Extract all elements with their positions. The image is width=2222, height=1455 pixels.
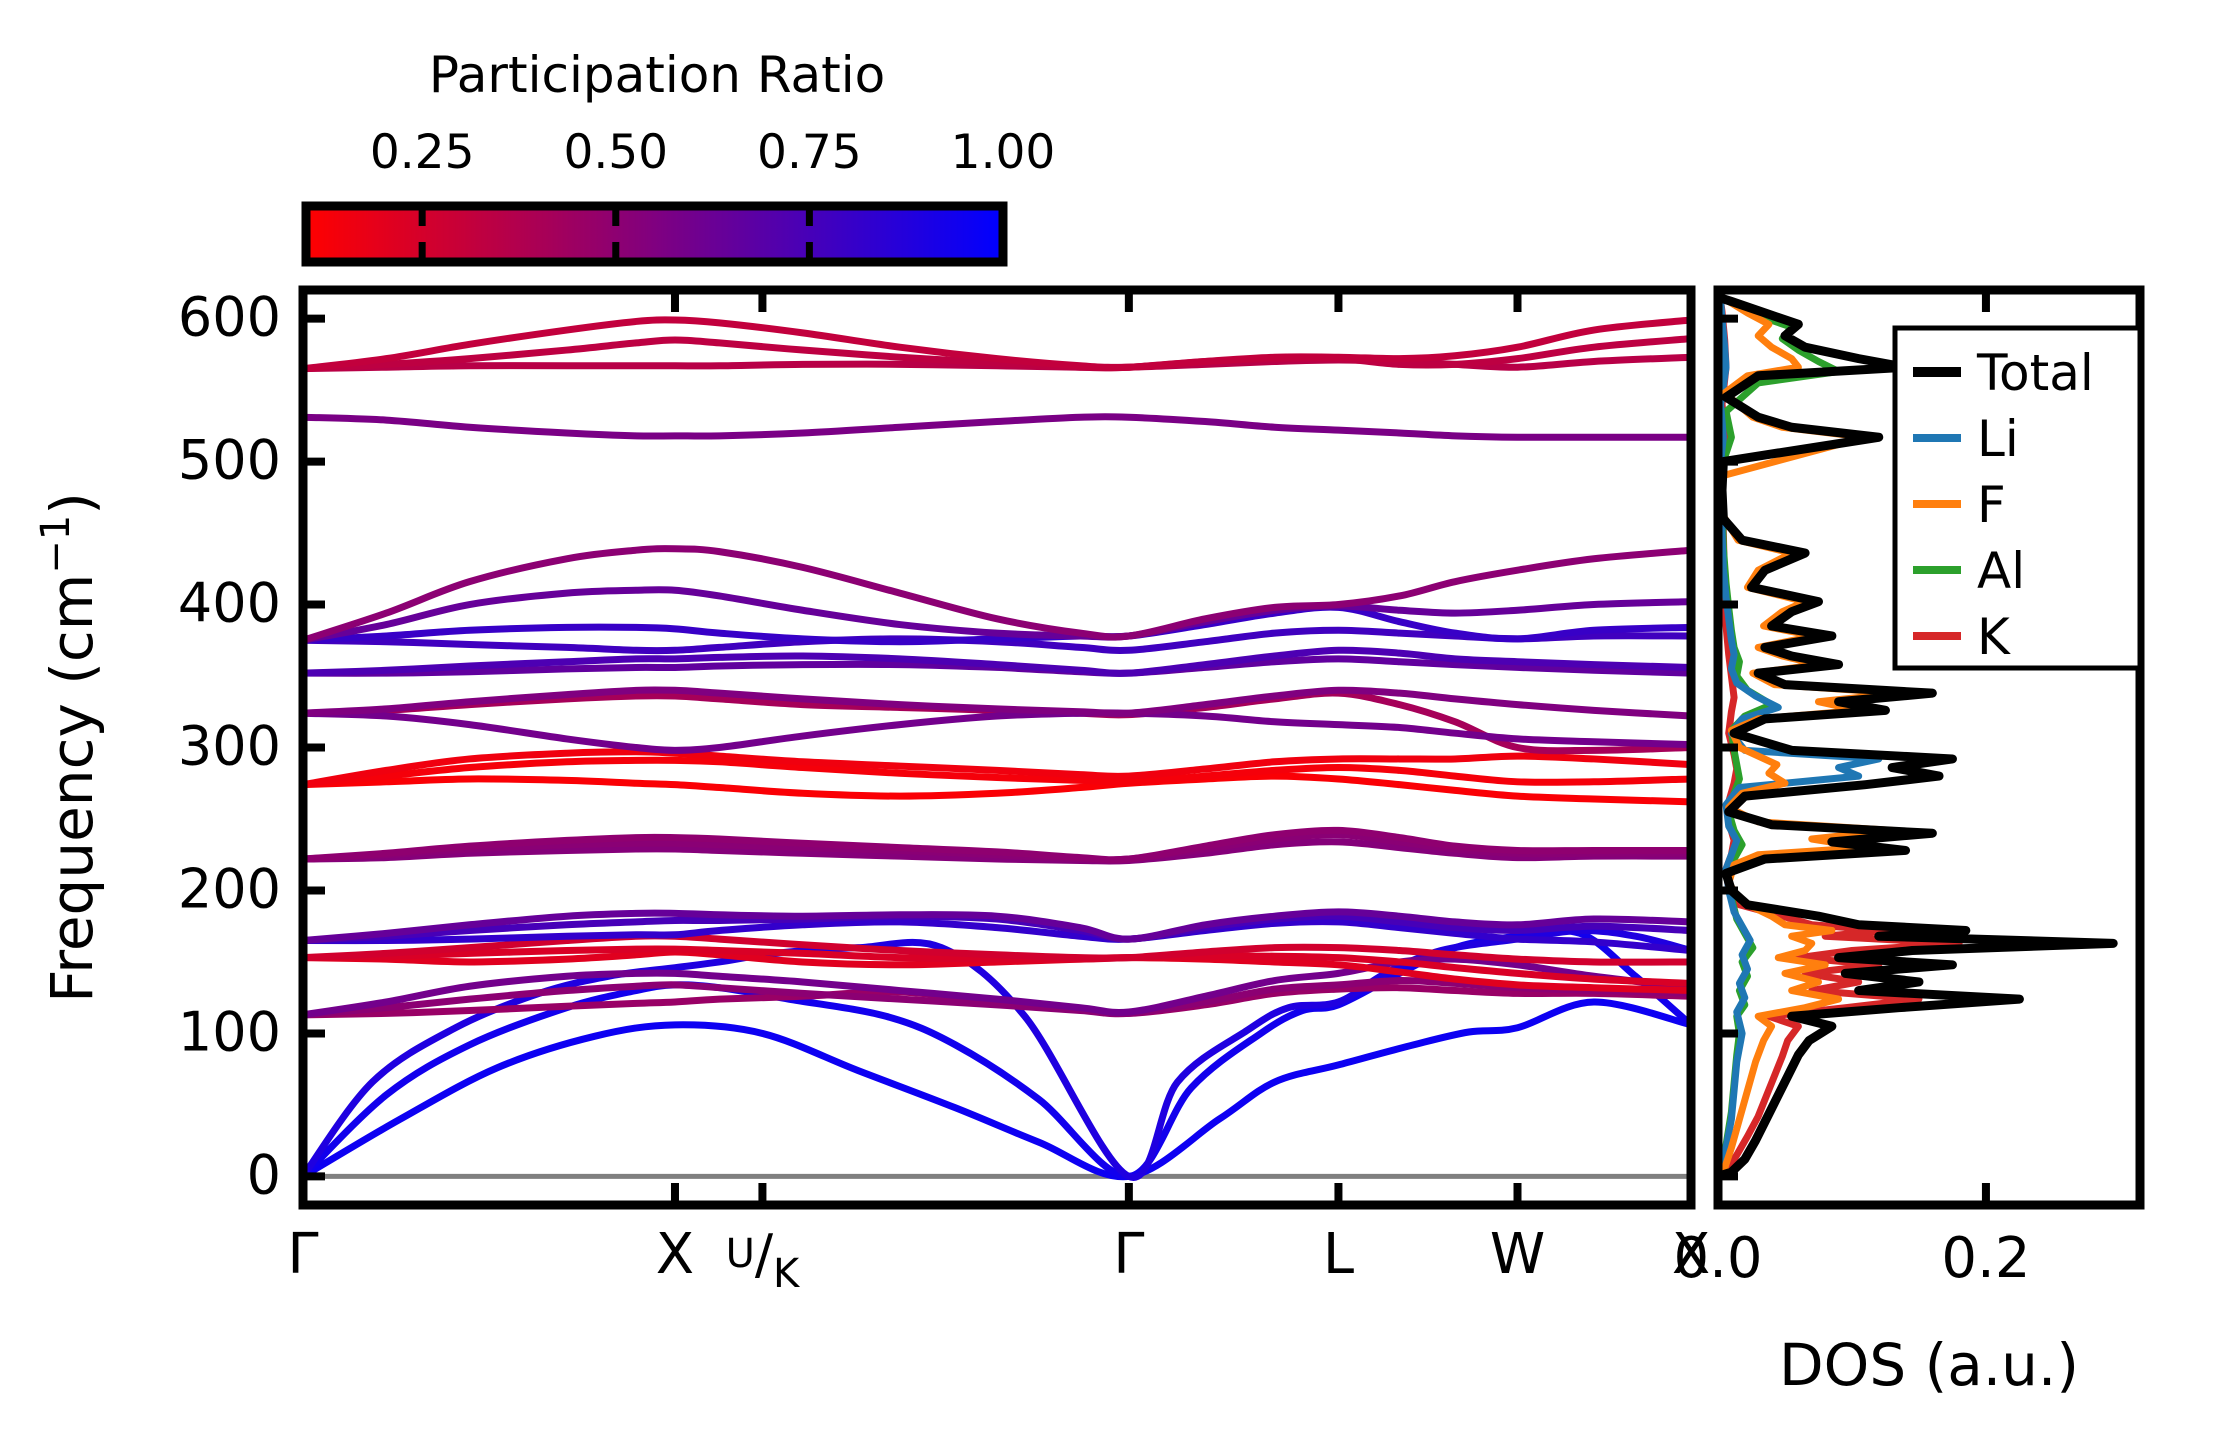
- ylabel-main: Frequency (cm: [38, 574, 106, 1003]
- band-panel: 0100200300400500600ΓXU/KΓLWX: [178, 286, 1710, 1297]
- y-ticklabel: 100: [178, 1000, 281, 1063]
- colorbar-ticklabel: 0.75: [757, 125, 862, 180]
- legend-label-li: Li: [1977, 410, 2019, 468]
- colorbar-title: Participation Ratio: [429, 46, 885, 104]
- y-axis-label: Frequency (cm−1): [33, 492, 106, 1003]
- legend-label-k: K: [1977, 608, 2011, 666]
- dos-ticklabel: 0.2: [1941, 1226, 2030, 1291]
- colorbar-group: 0.250.500.751.00Participation Ratio: [306, 46, 1055, 262]
- colorbar-ticklabel: 1.00: [951, 125, 1056, 180]
- y-ticklabel: 300: [178, 715, 281, 778]
- u-label: U: [726, 1231, 755, 1277]
- band-lines-group: [303, 320, 1691, 1178]
- x-ticklabel: L: [1323, 1222, 1354, 1287]
- phonon-figure: 0.250.500.751.00Participation Ratio01002…: [0, 0, 2222, 1455]
- y-ticklabel: 0: [247, 1143, 281, 1206]
- y-ticklabel: 600: [178, 286, 281, 349]
- y-ticklabel: 200: [178, 857, 281, 920]
- slash: /: [755, 1223, 774, 1286]
- band-26: [303, 590, 1691, 641]
- y-ticklabel: 400: [178, 572, 281, 635]
- colorbar-gradient-bar[interactable]: [306, 206, 1003, 262]
- x-ticklabel: W: [1490, 1222, 1545, 1287]
- legend-label-f: F: [1977, 476, 2006, 534]
- x-ticklabel: Γ: [287, 1222, 318, 1287]
- colorbar-ticklabel: 0.50: [563, 125, 668, 180]
- figure-root: 0.250.500.751.00Participation Ratio01002…: [0, 0, 2222, 1455]
- dos-ticklabel: 0.0: [1673, 1226, 1762, 1291]
- k-label: K: [773, 1251, 801, 1297]
- x-ticklabel-u-over-k: U/K: [726, 1223, 801, 1297]
- legend-label-al: Al: [1977, 542, 2025, 600]
- legend-label-total: Total: [1976, 344, 2094, 402]
- x-ticklabel: X: [656, 1222, 694, 1287]
- y-ticklabel: 500: [178, 429, 281, 492]
- colorbar-ticklabel: 0.25: [370, 125, 475, 180]
- band-28: [303, 417, 1691, 438]
- ylabel-superscript: −1: [33, 515, 79, 574]
- ylabel-tail: ): [38, 492, 106, 515]
- dos-legend: TotalLiFAlK: [1895, 328, 2140, 668]
- dos-axis-label: DOS (a.u.): [1779, 1331, 2079, 1399]
- x-ticklabel: Γ: [1113, 1222, 1144, 1287]
